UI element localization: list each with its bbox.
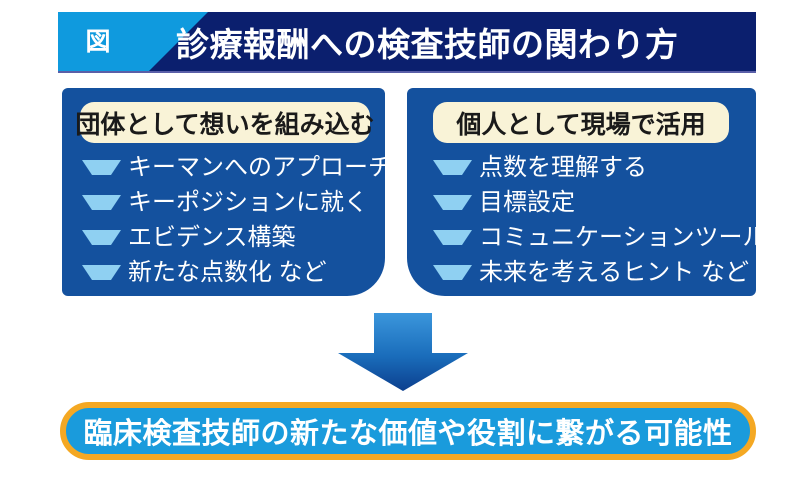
list-item-label: 新たな点数化 など [128, 261, 327, 285]
triangle-down-icon [82, 230, 121, 245]
list-item: キーポジションに就く [82, 185, 385, 220]
list-item: キーマンへのアプローチ [82, 150, 385, 185]
list-item-label: 目標設定 [479, 191, 575, 215]
triangle-down-icon [433, 195, 472, 210]
list-item-label: キーポジションに就く [128, 191, 368, 215]
panel-organization-label: 団体として想いを組み込む [80, 102, 370, 143]
down-arrow-icon [338, 313, 468, 391]
triangle-down-icon [433, 265, 472, 280]
header-bar: 図 診療報酬への検査技師の関わり方 [58, 12, 756, 72]
list-item-label: 点数を理解する [479, 156, 647, 180]
list-item: コミュニケーションツールとして [433, 220, 756, 255]
list-item-label: エビデンス構築 [128, 226, 296, 250]
header-underline [58, 71, 756, 73]
list-item: 未来を考えるヒント など [433, 255, 756, 290]
triangle-down-icon [82, 160, 121, 175]
panel-individual: 個人として現場で活用 点数を理解する 目標設定 コミュニケーションツールとして … [407, 88, 756, 296]
triangle-down-icon [433, 230, 472, 245]
list-item-label: 未来を考えるヒント など [479, 261, 749, 285]
list-item-label: キーマンへのアプローチ [128, 156, 392, 180]
triangle-down-icon [433, 160, 472, 175]
panel-individual-label: 個人として現場で活用 [433, 102, 729, 143]
list-item: 点数を理解する [433, 150, 756, 185]
conclusion-banner-text: 臨床検査技師の新たな価値や役割に繋がる可能性 [83, 410, 732, 452]
panel-organization-list: キーマンへのアプローチ キーポジションに就く エビデンス構築 新たな点数化 など [62, 150, 385, 290]
list-item: 目標設定 [433, 185, 756, 220]
panel-individual-list: 点数を理解する 目標設定 コミュニケーションツールとして 未来を考えるヒント な… [407, 150, 756, 290]
page-title: 診療報酬への検査技師の関わり方 [176, 12, 679, 72]
triangle-down-icon [82, 195, 121, 210]
list-item-label: コミュニケーションツールとして [479, 226, 800, 250]
triangle-down-icon [82, 265, 121, 280]
conclusion-banner: 臨床検査技師の新たな価値や役割に繋がる可能性 [60, 402, 756, 460]
diagram-canvas: 図 診療報酬への検査技師の関わり方 団体として想いを組み込む キーマンへのアプロ… [0, 0, 800, 479]
header-badge: 図 [58, 12, 138, 72]
panel-organization: 団体として想いを組み込む キーマンへのアプローチ キーポジションに就く エビデン… [62, 88, 385, 296]
list-item: エビデンス構築 [82, 220, 385, 255]
list-item: 新たな点数化 など [82, 255, 385, 290]
